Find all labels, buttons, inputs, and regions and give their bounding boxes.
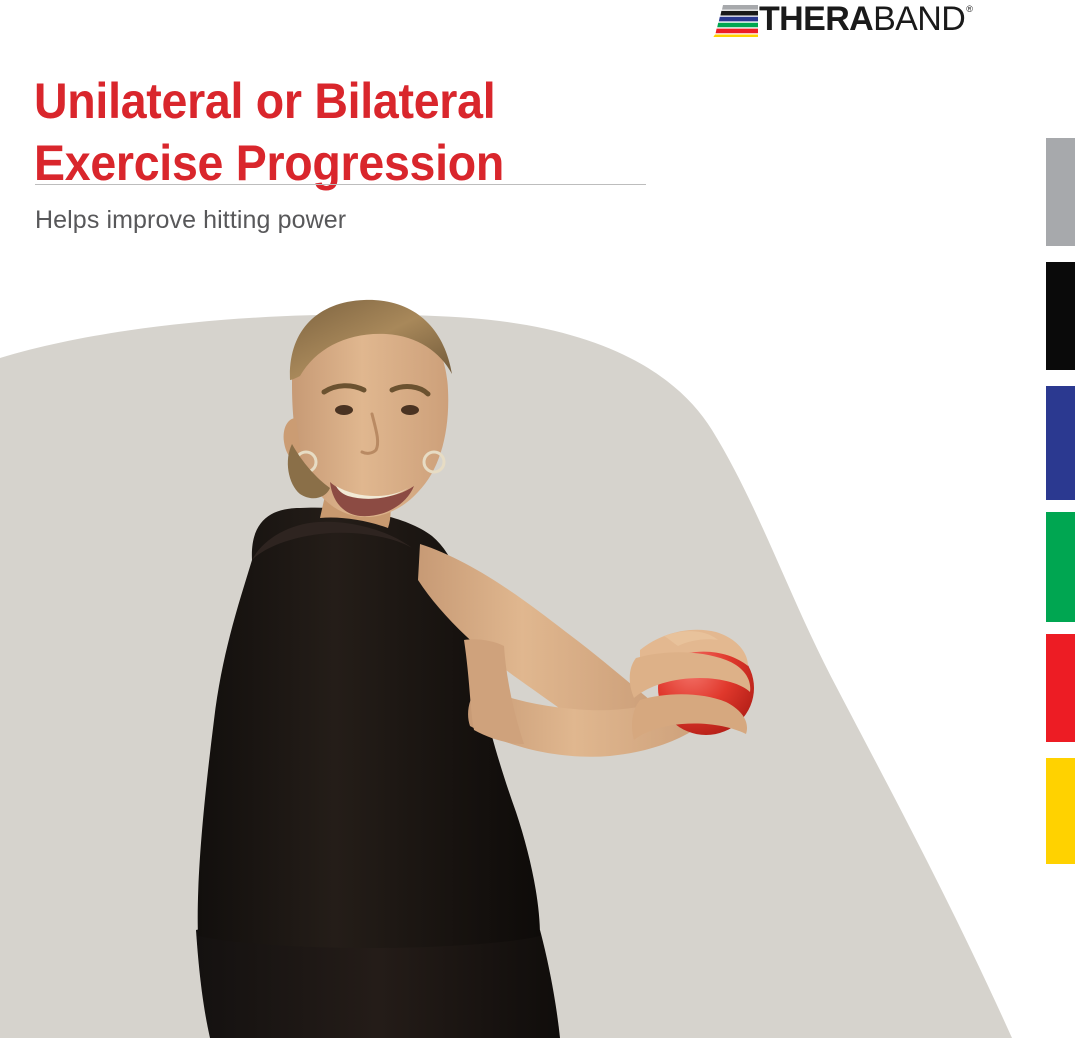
page-subtitle: Helps improve hitting power [35, 206, 346, 235]
color-block-green [1046, 512, 1075, 622]
brand-word-thera: THERA [759, 0, 873, 38]
stripe-yellow [713, 35, 758, 38]
theraband-stripes-icon [712, 4, 758, 37]
page-title-line-1: Unilateral or Bilateral [34, 70, 685, 132]
stripe-blue [719, 17, 758, 22]
color-block-blue [1046, 386, 1075, 500]
eye-left [335, 405, 353, 415]
stripe-group [713, 5, 758, 37]
color-block-yellow [1046, 758, 1075, 864]
title-divider [35, 184, 646, 185]
brand-logo: THERABAND® [712, 4, 1040, 40]
color-block-red [1046, 634, 1075, 742]
poster-page: THERABAND® Unilateral or Bilateral Exerc… [0, 0, 1080, 1038]
registered-trademark-icon: ® [966, 4, 973, 14]
stripe-silver [722, 5, 758, 10]
brand-wordmark: THERABAND® [759, 4, 972, 37]
brand-word-band: BAND [873, 0, 965, 38]
stripe-black [720, 11, 758, 16]
eye-right [401, 405, 419, 415]
color-block-silver [1046, 138, 1075, 246]
color-block-black [1046, 262, 1075, 370]
stripe-green [717, 23, 758, 28]
resistance-level-color-strip [1046, 138, 1075, 864]
page-title: Unilateral or Bilateral Exercise Progres… [34, 70, 685, 194]
stripe-red [716, 29, 758, 34]
